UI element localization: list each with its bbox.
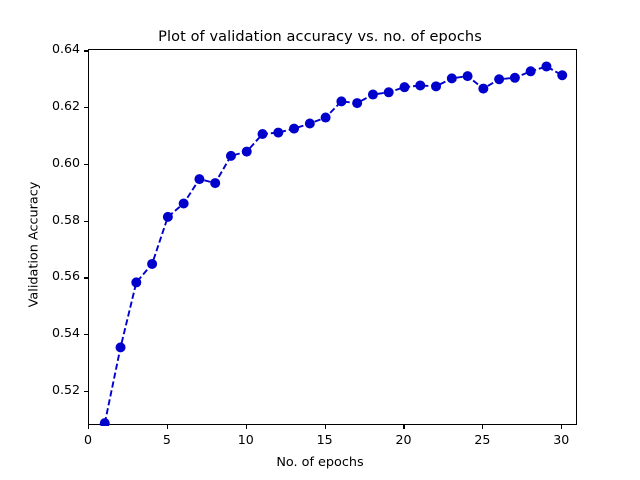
- data-point-marker: [100, 418, 110, 426]
- data-point-marker: [147, 259, 157, 269]
- data-point-marker: [415, 80, 425, 90]
- data-point-marker: [305, 119, 315, 129]
- data-point-marker: [399, 82, 409, 92]
- x-axis-tick-label: 15: [295, 432, 355, 447]
- y-axis-tick-label: 0.62: [36, 98, 80, 113]
- data-point-marker: [447, 73, 457, 83]
- data-point-marker: [463, 71, 473, 81]
- y-axis-tick-label: 0.64: [36, 41, 80, 56]
- data-series-svg: [89, 50, 578, 426]
- data-point-marker: [131, 277, 141, 287]
- x-axis-tick-label: 0: [58, 432, 118, 447]
- matplotlib-figure: Plot of validation accuracy vs. no. of e…: [0, 0, 640, 480]
- y-axis-tick-label: 0.52: [36, 382, 80, 397]
- data-point-marker: [541, 61, 551, 71]
- data-point-marker: [352, 98, 362, 108]
- data-point-marker: [179, 199, 189, 209]
- y-axis-tick-label: 0.56: [36, 268, 80, 283]
- x-axis-tick-label: 20: [373, 432, 433, 447]
- data-point-marker: [258, 129, 268, 139]
- data-point-marker: [226, 151, 236, 161]
- x-axis-tick-label: 5: [137, 432, 197, 447]
- data-point-marker: [242, 147, 252, 157]
- data-point-marker: [321, 113, 331, 123]
- data-point-marker: [289, 124, 299, 134]
- y-axis-tick-label: 0.58: [36, 212, 80, 227]
- data-point-marker: [194, 174, 204, 184]
- y-axis-tick-label: 0.60: [36, 155, 80, 170]
- data-point-marker: [336, 96, 346, 106]
- y-axis-tick-label: 0.54: [36, 325, 80, 340]
- x-axis-label: No. of epochs: [0, 455, 640, 470]
- plot-area: [88, 49, 577, 425]
- data-point-marker: [273, 128, 283, 138]
- data-point-marker: [116, 342, 126, 352]
- chart-title: Plot of validation accuracy vs. no. of e…: [0, 29, 640, 45]
- x-axis-tick-label: 25: [452, 432, 512, 447]
- data-point-marker: [431, 81, 441, 91]
- y-axis-label: Validation Accuracy: [27, 115, 42, 375]
- x-axis-tick-label: 10: [216, 432, 276, 447]
- data-point-marker: [478, 84, 488, 94]
- data-point-marker: [163, 212, 173, 222]
- data-point-marker: [494, 74, 504, 84]
- x-axis-tick-label: 30: [531, 432, 591, 447]
- data-point-marker: [526, 66, 536, 76]
- data-line-validation-accuracy: [105, 66, 562, 423]
- data-point-marker: [510, 73, 520, 83]
- data-point-marker: [210, 178, 220, 188]
- data-point-marker: [368, 90, 378, 100]
- data-point-marker: [557, 70, 567, 80]
- data-point-marker: [384, 87, 394, 97]
